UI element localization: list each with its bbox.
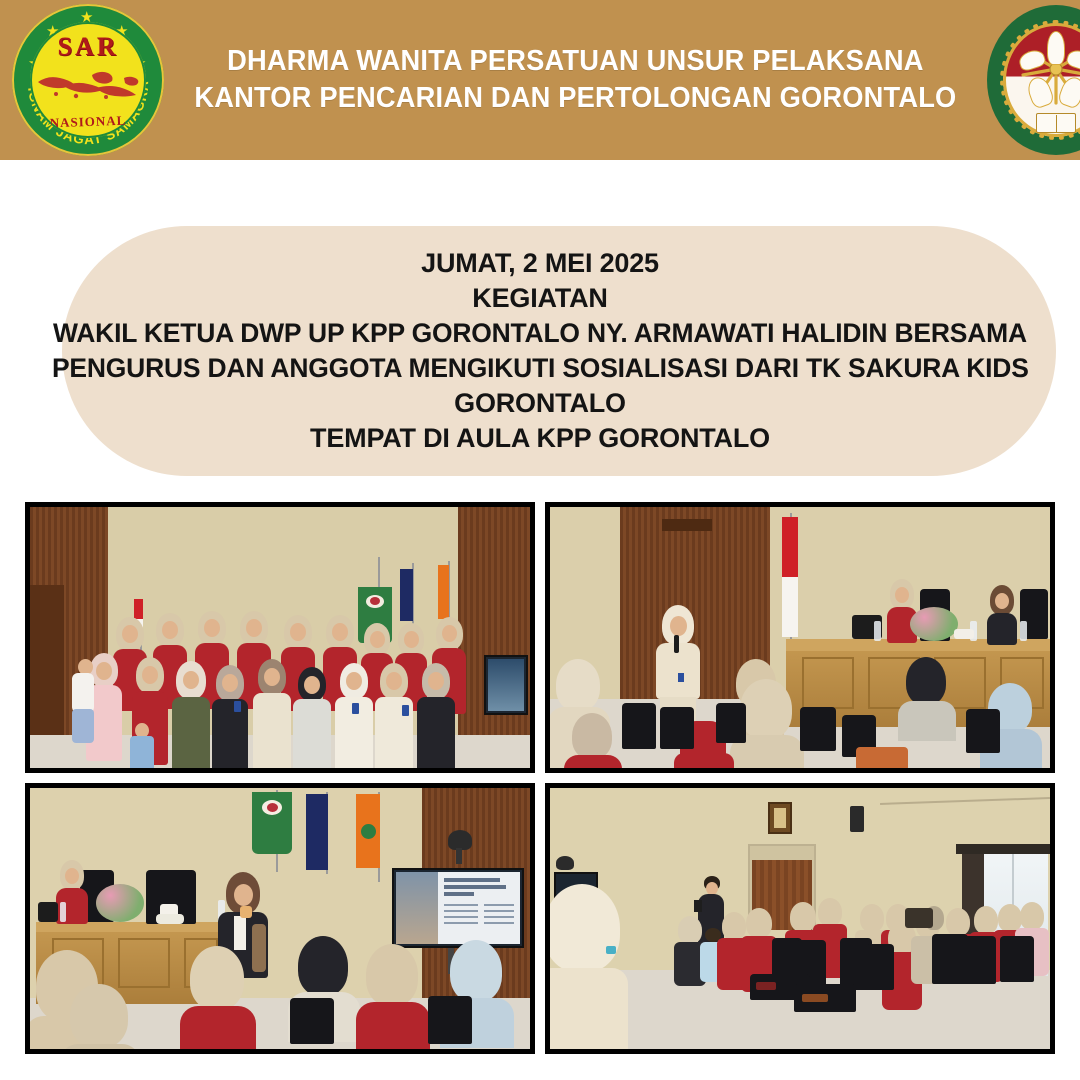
dharma-wanita-persatuan-logo: [987, 5, 1080, 155]
sar-acronym-label: SAR: [30, 32, 146, 62]
sar-nasional-logo: ★ ★ ★ ★ ★ AVIGNAM JAGAT SAMAGRAM SAR: [12, 4, 164, 156]
photo-presentation-with-screen[interactable]: [25, 783, 535, 1054]
header-title-line-2: KANTOR PENCARIAN DAN PERTOLONGAN GORONTA…: [194, 80, 956, 117]
caption-line-venue: TEMPAT DI AULA KPP GORONTALO: [310, 421, 770, 456]
caption-line-activity: KEGIATAN: [472, 281, 607, 316]
sar-inner-disc: SAR NASIONAL: [30, 22, 146, 138]
caption-line-date: JUMAT, 2 MEI 2025: [421, 246, 659, 281]
photo-group-portrait[interactable]: [25, 502, 535, 773]
caption-line-5: GORONTALO: [454, 386, 626, 421]
header-title-line-1: DHARMA WANITA PERSATUAN UNSUR PELAKSANA: [194, 43, 956, 80]
caption-line-3: WAKIL KETUA DWP UP KPP GORONTALO NY. ARM…: [53, 316, 1027, 351]
header-band: ★ ★ ★ ★ ★ AVIGNAM JAGAT SAMAGRAM SAR: [0, 0, 1080, 160]
poster-root: ★ ★ ★ ★ ★ AVIGNAM JAGAT SAMAGRAM SAR: [0, 0, 1080, 1080]
photo-speaker-with-microphone[interactable]: [545, 502, 1055, 773]
header-title: DHARMA WANITA PERSATUAN UNSUR PELAKSANA …: [189, 43, 962, 117]
indonesia-map-icon: [36, 66, 140, 102]
photo-grid: [25, 502, 1055, 1054]
caption-text-block: JUMAT, 2 MEI 2025 KEGIATAN WAKIL KETUA D…: [0, 226, 1080, 476]
photo-audience-seated[interactable]: [545, 783, 1055, 1054]
caption-line-4: PENGURUS DAN ANGGOTA MENGIKUTI SOSIALISA…: [52, 351, 1029, 386]
